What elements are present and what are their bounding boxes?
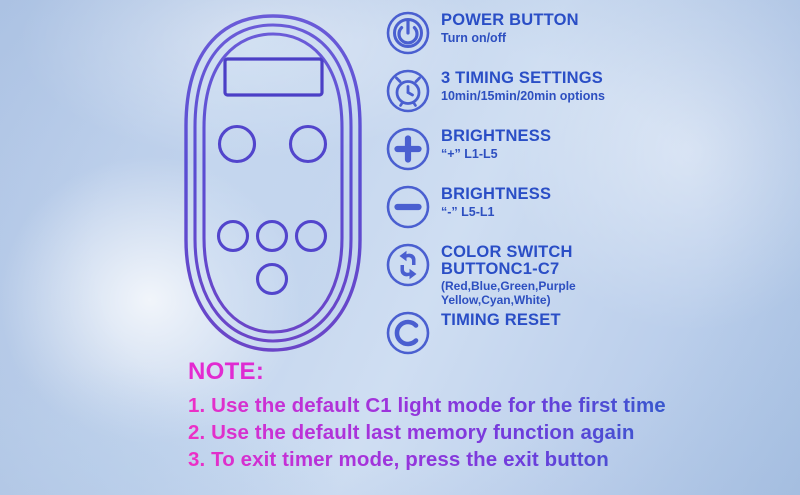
feature-title: TIMING RESET bbox=[441, 312, 561, 329]
note-heading: NOTE: bbox=[188, 358, 788, 386]
feature-text-brightness-up: BRIGHTNESS “+” L1-L5 bbox=[441, 122, 551, 161]
feature-list: POWER BUTTON Turn on/off 3 TIMING bbox=[385, 6, 790, 364]
feature-text-power: POWER BUTTON Turn on/off bbox=[441, 6, 579, 45]
alarm-clock-icon bbox=[385, 68, 431, 114]
plus-circle-icon bbox=[385, 126, 431, 172]
remote-control-illustration bbox=[168, 8, 378, 358]
feature-title: COLOR SWITCH BUTTONC1-C7 bbox=[441, 244, 576, 278]
feature-text-color-switch: COLOR SWITCH BUTTONC1-C7 (Red,Blue,Green… bbox=[441, 238, 576, 308]
feature-subtitle: Turn on/off bbox=[441, 31, 579, 45]
feature-row-brightness-down: BRIGHTNESS “-” L5-L1 bbox=[385, 180, 790, 238]
feature-title: 3 TIMING SETTINGS bbox=[441, 70, 605, 87]
feature-title: BRIGHTNESS bbox=[441, 186, 551, 203]
feature-row-timing-settings: 3 TIMING SETTINGS 10min/15min/20min opti… bbox=[385, 64, 790, 122]
feature-title: BRIGHTNESS bbox=[441, 128, 551, 145]
note-line-3: 3. To exit timer mode, press the exit bu… bbox=[188, 446, 788, 473]
feature-row-color-switch: COLOR SWITCH BUTTONC1-C7 (Red,Blue,Green… bbox=[385, 238, 790, 306]
feature-row-timing-reset: TIMING RESET bbox=[385, 306, 790, 364]
power-icon bbox=[385, 10, 431, 56]
feature-title: POWER BUTTON bbox=[441, 12, 579, 29]
minus-circle-icon bbox=[385, 184, 431, 230]
feature-subtitle: “+” L1-L5 bbox=[441, 147, 551, 161]
feature-text-timing-reset: TIMING RESET bbox=[441, 306, 561, 331]
note-line-2: 2. Use the default last memory function … bbox=[188, 419, 788, 446]
c-circle-icon bbox=[385, 310, 431, 356]
feature-text-brightness-down: BRIGHTNESS “-” L5-L1 bbox=[441, 180, 551, 219]
feature-subtitle: (Red,Blue,Green,Purple Yellow,Cyan,White… bbox=[441, 280, 576, 308]
product-instruction-graphic: POWER BUTTON Turn on/off 3 TIMING bbox=[0, 0, 800, 495]
feature-subtitle: “-” L5-L1 bbox=[441, 205, 551, 219]
feature-row-power: POWER BUTTON Turn on/off bbox=[385, 6, 790, 64]
note-line-1: 1. Use the default C1 light mode for the… bbox=[188, 392, 788, 419]
note-block: NOTE: 1. Use the default C1 light mode f… bbox=[188, 358, 788, 473]
color-switch-icon bbox=[385, 242, 431, 288]
feature-row-brightness-up: BRIGHTNESS “+” L1-L5 bbox=[385, 122, 790, 180]
feature-subtitle: 10min/15min/20min options bbox=[441, 89, 605, 103]
remote-outer-shell bbox=[186, 16, 360, 350]
feature-text-timing-settings: 3 TIMING SETTINGS 10min/15min/20min opti… bbox=[441, 64, 605, 103]
